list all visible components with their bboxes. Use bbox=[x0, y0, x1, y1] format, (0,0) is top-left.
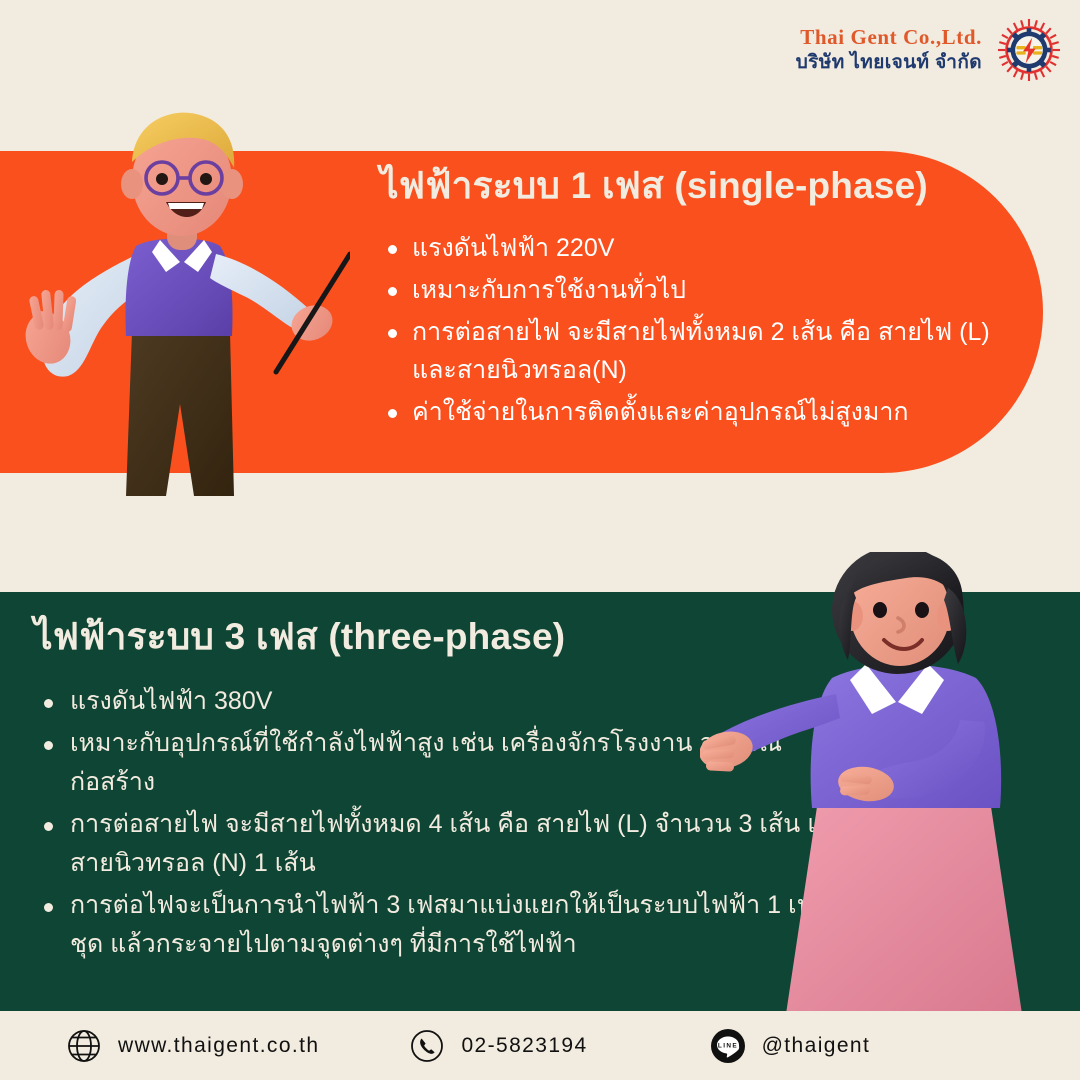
brand-name-en: Thai Gent Co.,Ltd. bbox=[796, 25, 982, 50]
woman-presenting-illustration bbox=[700, 552, 1080, 1022]
list-item: การต่อสายไฟ จะมีสายไฟทั้งหมด 2 เส้น คือ … bbox=[380, 313, 1000, 389]
list-item: แรงดันไฟฟ้า 220V bbox=[380, 229, 1000, 267]
footer-website-text: www.thaigent.co.th bbox=[118, 1034, 319, 1058]
phone-icon bbox=[409, 1028, 445, 1064]
brand-header: Thai Gent Co.,Ltd. บริษัท ไทยเจนท์ จำกัด bbox=[796, 14, 1062, 86]
brand-name-th: บริษัท ไทยเจนท์ จำกัด bbox=[796, 52, 982, 74]
footer-phone-text: 02-5823194 bbox=[461, 1034, 587, 1058]
globe-icon bbox=[66, 1028, 102, 1064]
single-phase-title: ไฟฟ้าระบบ 1 เฟส (single-phase) bbox=[380, 163, 1000, 209]
svg-text:LINE: LINE bbox=[717, 1042, 737, 1049]
single-phase-bullet-list: แรงดันไฟฟ้า 220V เหมาะกับการใช้งานทั่วไป… bbox=[380, 229, 1000, 431]
brand-text-block: Thai Gent Co.,Ltd. บริษัท ไทยเจนท์ จำกัด bbox=[796, 25, 982, 74]
footer-line[interactable]: LINE @thaigent bbox=[710, 1028, 871, 1064]
footer-line-text: @thaigent bbox=[762, 1034, 871, 1058]
list-item: ค่าใช้จ่ายในการติดตั้งและค่าอุปกรณ์ไม่สู… bbox=[380, 393, 1000, 431]
footer-phone[interactable]: 02-5823194 bbox=[409, 1028, 587, 1064]
man-with-pointer-illustration bbox=[20, 104, 350, 504]
line-app-icon: LINE bbox=[710, 1028, 746, 1064]
footer-website[interactable]: www.thaigent.co.th bbox=[66, 1028, 319, 1064]
company-emblem-icon bbox=[996, 17, 1062, 83]
infographic-poster: Thai Gent Co.,Ltd. บริษัท ไทยเจนท์ จำกัด bbox=[0, 0, 1080, 1080]
list-item: เหมาะกับการใช้งานทั่วไป bbox=[380, 271, 1000, 309]
footer-bar: www.thaigent.co.th 02-5823194 LINE @thai… bbox=[0, 1011, 1080, 1080]
single-phase-content: ไฟฟ้าระบบ 1 เฟส (single-phase) แรงดันไฟฟ… bbox=[380, 163, 1000, 435]
